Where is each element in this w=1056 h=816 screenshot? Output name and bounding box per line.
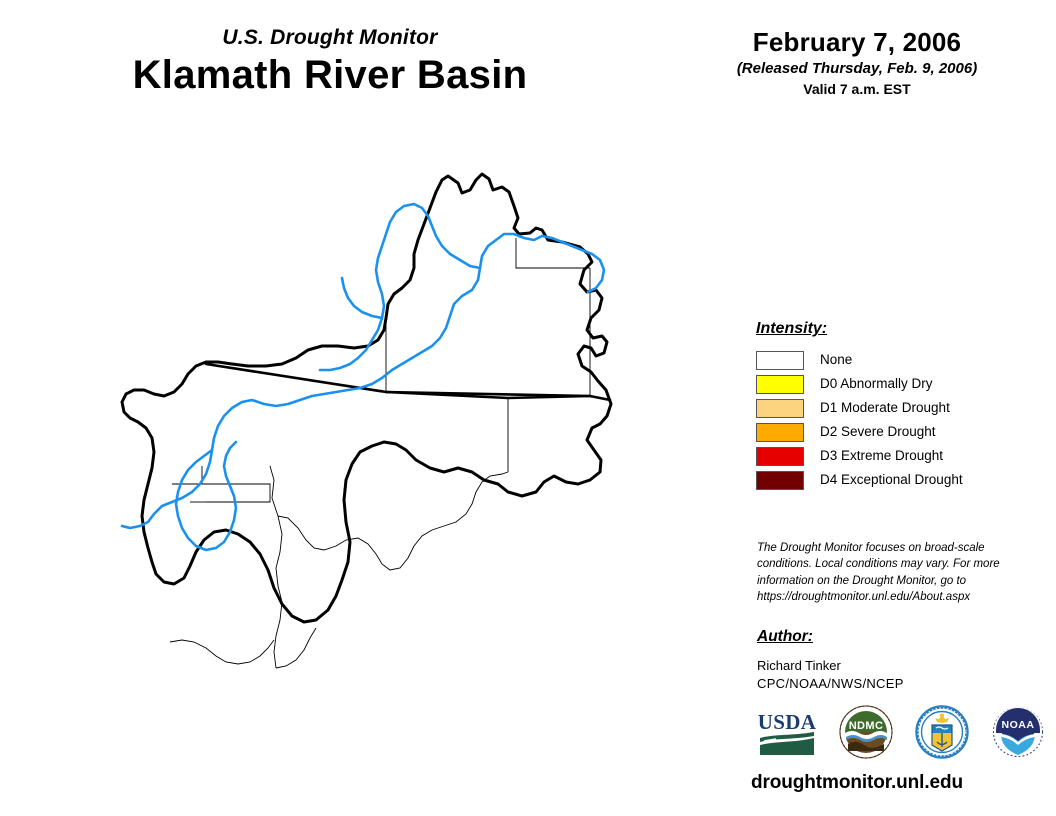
disclaimer-line-3: information on the Drought Monitor, go t… xyxy=(757,573,1027,589)
title-block: U.S. Drought Monitor Klamath River Basin xyxy=(0,26,660,98)
klamath-river-branch xyxy=(342,278,382,318)
legend-label-d2: D2 Severe Drought xyxy=(820,425,936,440)
legend-swatch-d4 xyxy=(756,471,804,490)
usda-logo[interactable]: USDA xyxy=(756,705,818,764)
date-block: February 7, 2006 (Released Thursday, Feb… xyxy=(682,28,1032,97)
release-date: (Released Thursday, Feb. 9, 2006) xyxy=(682,61,1032,78)
program-title: U.S. Drought Monitor xyxy=(0,26,660,49)
drought-map[interactable] xyxy=(110,150,690,770)
author-organization: CPC/NOAA/NWS/NCEP xyxy=(757,675,1037,693)
legend-label-d4: D4 Exceptional Drought xyxy=(820,473,963,488)
legend-swatch-none xyxy=(756,351,804,370)
klamath-basin-map-svg[interactable] xyxy=(110,150,690,770)
legend-label-d0: D0 Abnormally Dry xyxy=(820,377,933,392)
legend-label-d1: D1 Moderate Drought xyxy=(820,401,950,416)
commerce-seal-icon xyxy=(914,704,970,760)
legend-item-d0[interactable]: D0 Abnormally Dry xyxy=(756,373,1036,397)
commerce-logo[interactable] xyxy=(914,704,970,765)
legend-item-none[interactable]: None xyxy=(756,349,1036,373)
legend-label-none: None xyxy=(820,353,852,368)
author-block: Author: Richard Tinker CPC/NOAA/NWS/NCEP xyxy=(757,628,1037,692)
disclaimer-line-1: The Drought Monitor focuses on broad-sca… xyxy=(757,540,1027,556)
site-url[interactable]: droughtmonitor.unl.edu xyxy=(682,772,1032,794)
ndmc-logo-icon: NDMC xyxy=(838,704,894,760)
legend-item-d4[interactable]: D4 Exceptional Drought xyxy=(756,469,1036,493)
agency-logos: USDA NDMC xyxy=(756,703,1046,765)
usda-logo-icon: USDA xyxy=(756,705,818,759)
valid-time: Valid 7 a.m. EST xyxy=(682,82,1032,97)
svg-text:NOAA: NOAA xyxy=(1002,719,1035,731)
legend-swatch-d2 xyxy=(756,423,804,442)
legend-item-d1[interactable]: D1 Moderate Drought xyxy=(756,397,1036,421)
disclaimer-text: The Drought Monitor focuses on broad-sca… xyxy=(757,540,1027,605)
legend-item-d3[interactable]: D3 Extreme Drought xyxy=(756,445,1036,469)
valid-date: February 7, 2006 xyxy=(682,28,1032,57)
ndmc-logo[interactable]: NDMC xyxy=(838,704,894,765)
page-title: Klamath River Basin xyxy=(0,52,660,98)
author-name: Richard Tinker xyxy=(757,657,1037,675)
svg-text:NDMC: NDMC xyxy=(849,720,884,732)
noaa-logo-icon: NOAA xyxy=(990,704,1046,760)
noaa-logo[interactable]: NOAA xyxy=(990,704,1046,765)
legend-swatch-d0 xyxy=(756,375,804,394)
svg-text:USDA: USDA xyxy=(758,710,817,734)
legend-swatch-d1 xyxy=(756,399,804,418)
legend-heading: Intensity: xyxy=(756,320,1036,338)
intensity-legend: Intensity: None D0 Abnormally Dry D1 Mod… xyxy=(756,320,1036,493)
legend-label-d3: D3 Extreme Drought xyxy=(820,449,943,464)
legend-swatch-d3 xyxy=(756,447,804,466)
disclaimer-link[interactable]: https://droughtmonitor.unl.edu/About.asp… xyxy=(757,589,1027,605)
disclaimer-line-2: conditions. Local conditions may vary. F… xyxy=(757,556,1027,572)
legend-item-d2[interactable]: D2 Severe Drought xyxy=(756,421,1036,445)
author-heading: Author: xyxy=(757,628,1037,645)
